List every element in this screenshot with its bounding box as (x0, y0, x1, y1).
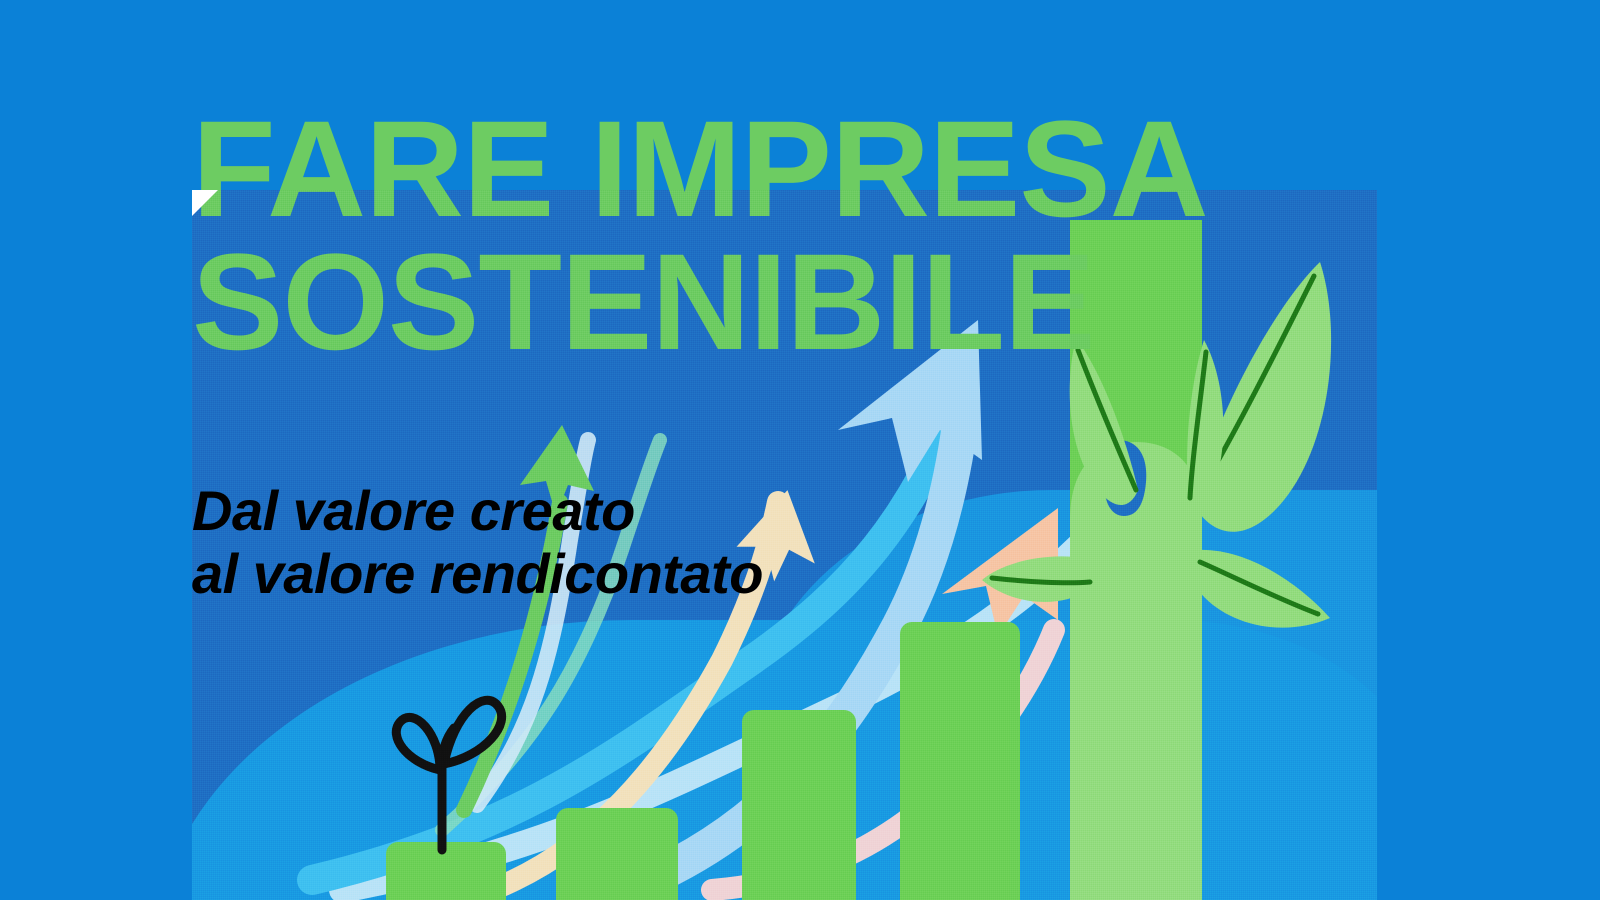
page-title: FARE IMPRESA SOSTENIBILE (192, 104, 1412, 370)
sprout-leaf-right (444, 700, 502, 764)
poster-canvas: FARE IMPRESA SOSTENIBILE Dal valore crea… (0, 0, 1600, 900)
page-subtitle: Dal valore creato al valore rendicontato (192, 480, 763, 605)
sprout-leaf-left (396, 717, 440, 770)
